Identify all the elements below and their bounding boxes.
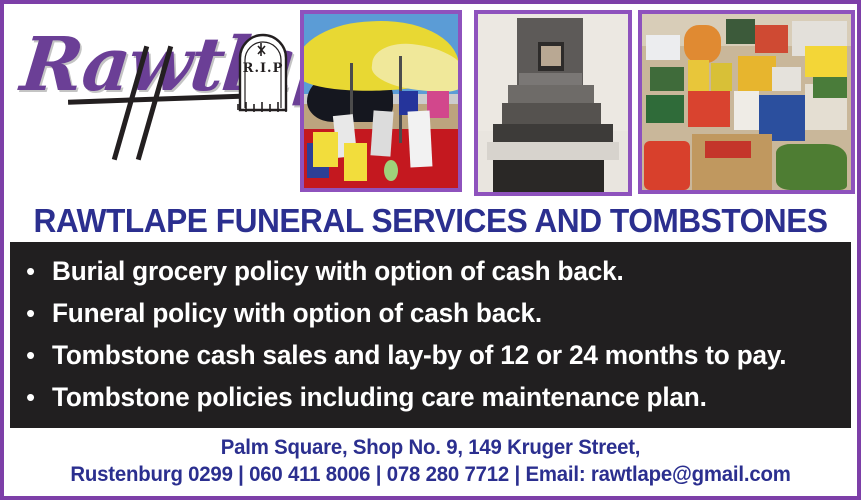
list-item: • Tombstone cash sales and lay-by of 12 … [26, 340, 851, 382]
advertisement: Rawtlape R.I.P [0, 0, 861, 500]
bullet-icon: • [26, 300, 52, 326]
contact-footer: Palm Square, Shop No. 9, 149 Kruger Stre… [4, 432, 857, 496]
bullet-icon: • [26, 342, 52, 368]
services-list: • Burial grocery policy with option of c… [10, 242, 851, 428]
header-section: Rawtlape R.I.P [4, 4, 857, 198]
list-item: • Funeral policy with option of cash bac… [26, 298, 851, 340]
list-item: • Tombstone policies including care main… [26, 382, 851, 424]
tombstone-rip-icon: R.I.P [232, 32, 294, 112]
brand-logo: Rawtlape R.I.P [10, 4, 300, 198]
service-text: Burial grocery policy with option of cas… [52, 256, 624, 287]
headline-title: RAWTLAPE FUNERAL SERVICES AND TOMBSTONES [21, 200, 840, 242]
service-text: Funeral policy with option of cash back. [52, 298, 542, 329]
photo-grocery-hamper [638, 10, 855, 194]
photo-funeral-tent [300, 10, 462, 192]
bullet-icon: • [26, 384, 52, 410]
service-text: Tombstone policies including care mainte… [52, 382, 707, 413]
service-text: Tombstone cash sales and lay-by of 12 or… [52, 340, 786, 371]
photo-tombstone-memorial [474, 10, 632, 196]
address-line: Palm Square, Shop No. 9, 149 Kruger Stre… [17, 436, 844, 460]
bullet-icon: • [26, 258, 52, 284]
list-item: • Burial grocery policy with option of c… [26, 256, 851, 298]
svg-text:R.I.P: R.I.P [243, 61, 284, 76]
contact-line: Rustenburg 0299 | 060 411 8006 | 078 280… [17, 463, 844, 487]
